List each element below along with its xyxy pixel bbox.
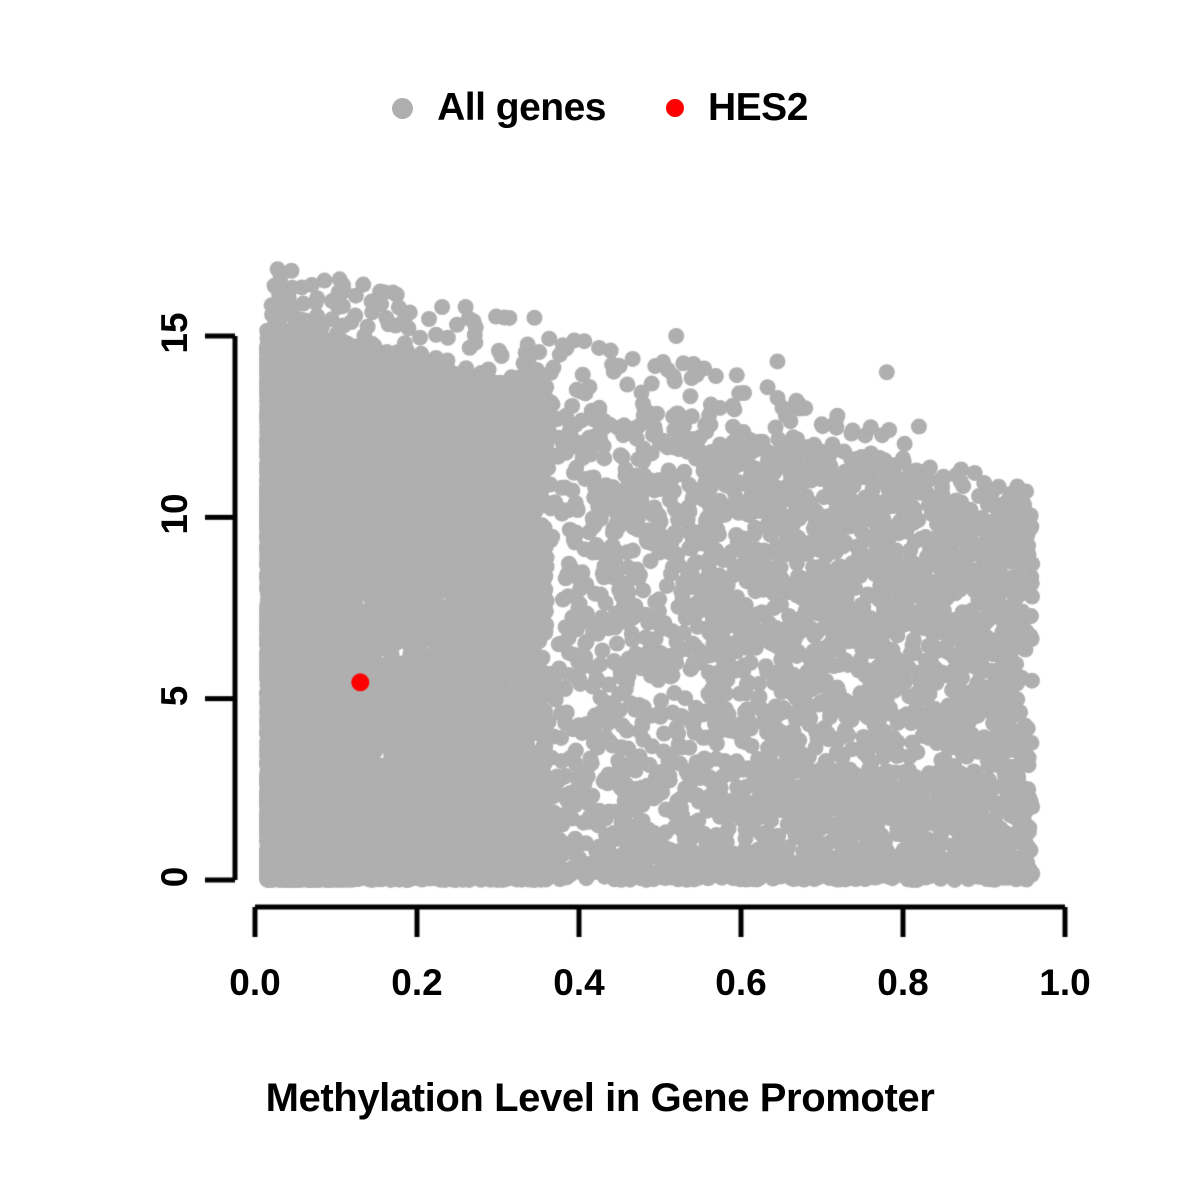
scatter-plot-figure: All genes HES2 Methylation Level in Gene…: [0, 0, 1200, 1200]
y-tick-label: 0: [154, 842, 196, 912]
x-tick-label: 0.2: [391, 962, 442, 1004]
legend-label-all-genes: All genes: [437, 86, 606, 130]
x-tick-label: 1.0: [1039, 962, 1090, 1004]
x-tick-label: 0.6: [715, 962, 766, 1004]
legend-label-hes2: HES2: [708, 86, 808, 130]
y-tick-label: 15: [154, 298, 196, 368]
y-tick-label: 5: [154, 661, 196, 731]
x-axis-title: Methylation Level in Gene Promoter: [0, 1076, 1200, 1121]
legend-entry-hes2: HES2: [666, 86, 808, 130]
y-tick-label: 10: [154, 479, 196, 549]
x-tick-label: 0.8: [877, 962, 928, 1004]
red-dot-icon: [666, 99, 684, 117]
x-tick-label: 0.0: [229, 962, 280, 1004]
chart-legend: All genes HES2: [0, 86, 1200, 130]
scatter-plot-canvas: [0, 0, 1200, 1200]
legend-entry-all-genes: All genes: [392, 86, 606, 130]
grey-dot-icon: [392, 98, 413, 119]
x-tick-label: 0.4: [553, 962, 604, 1004]
